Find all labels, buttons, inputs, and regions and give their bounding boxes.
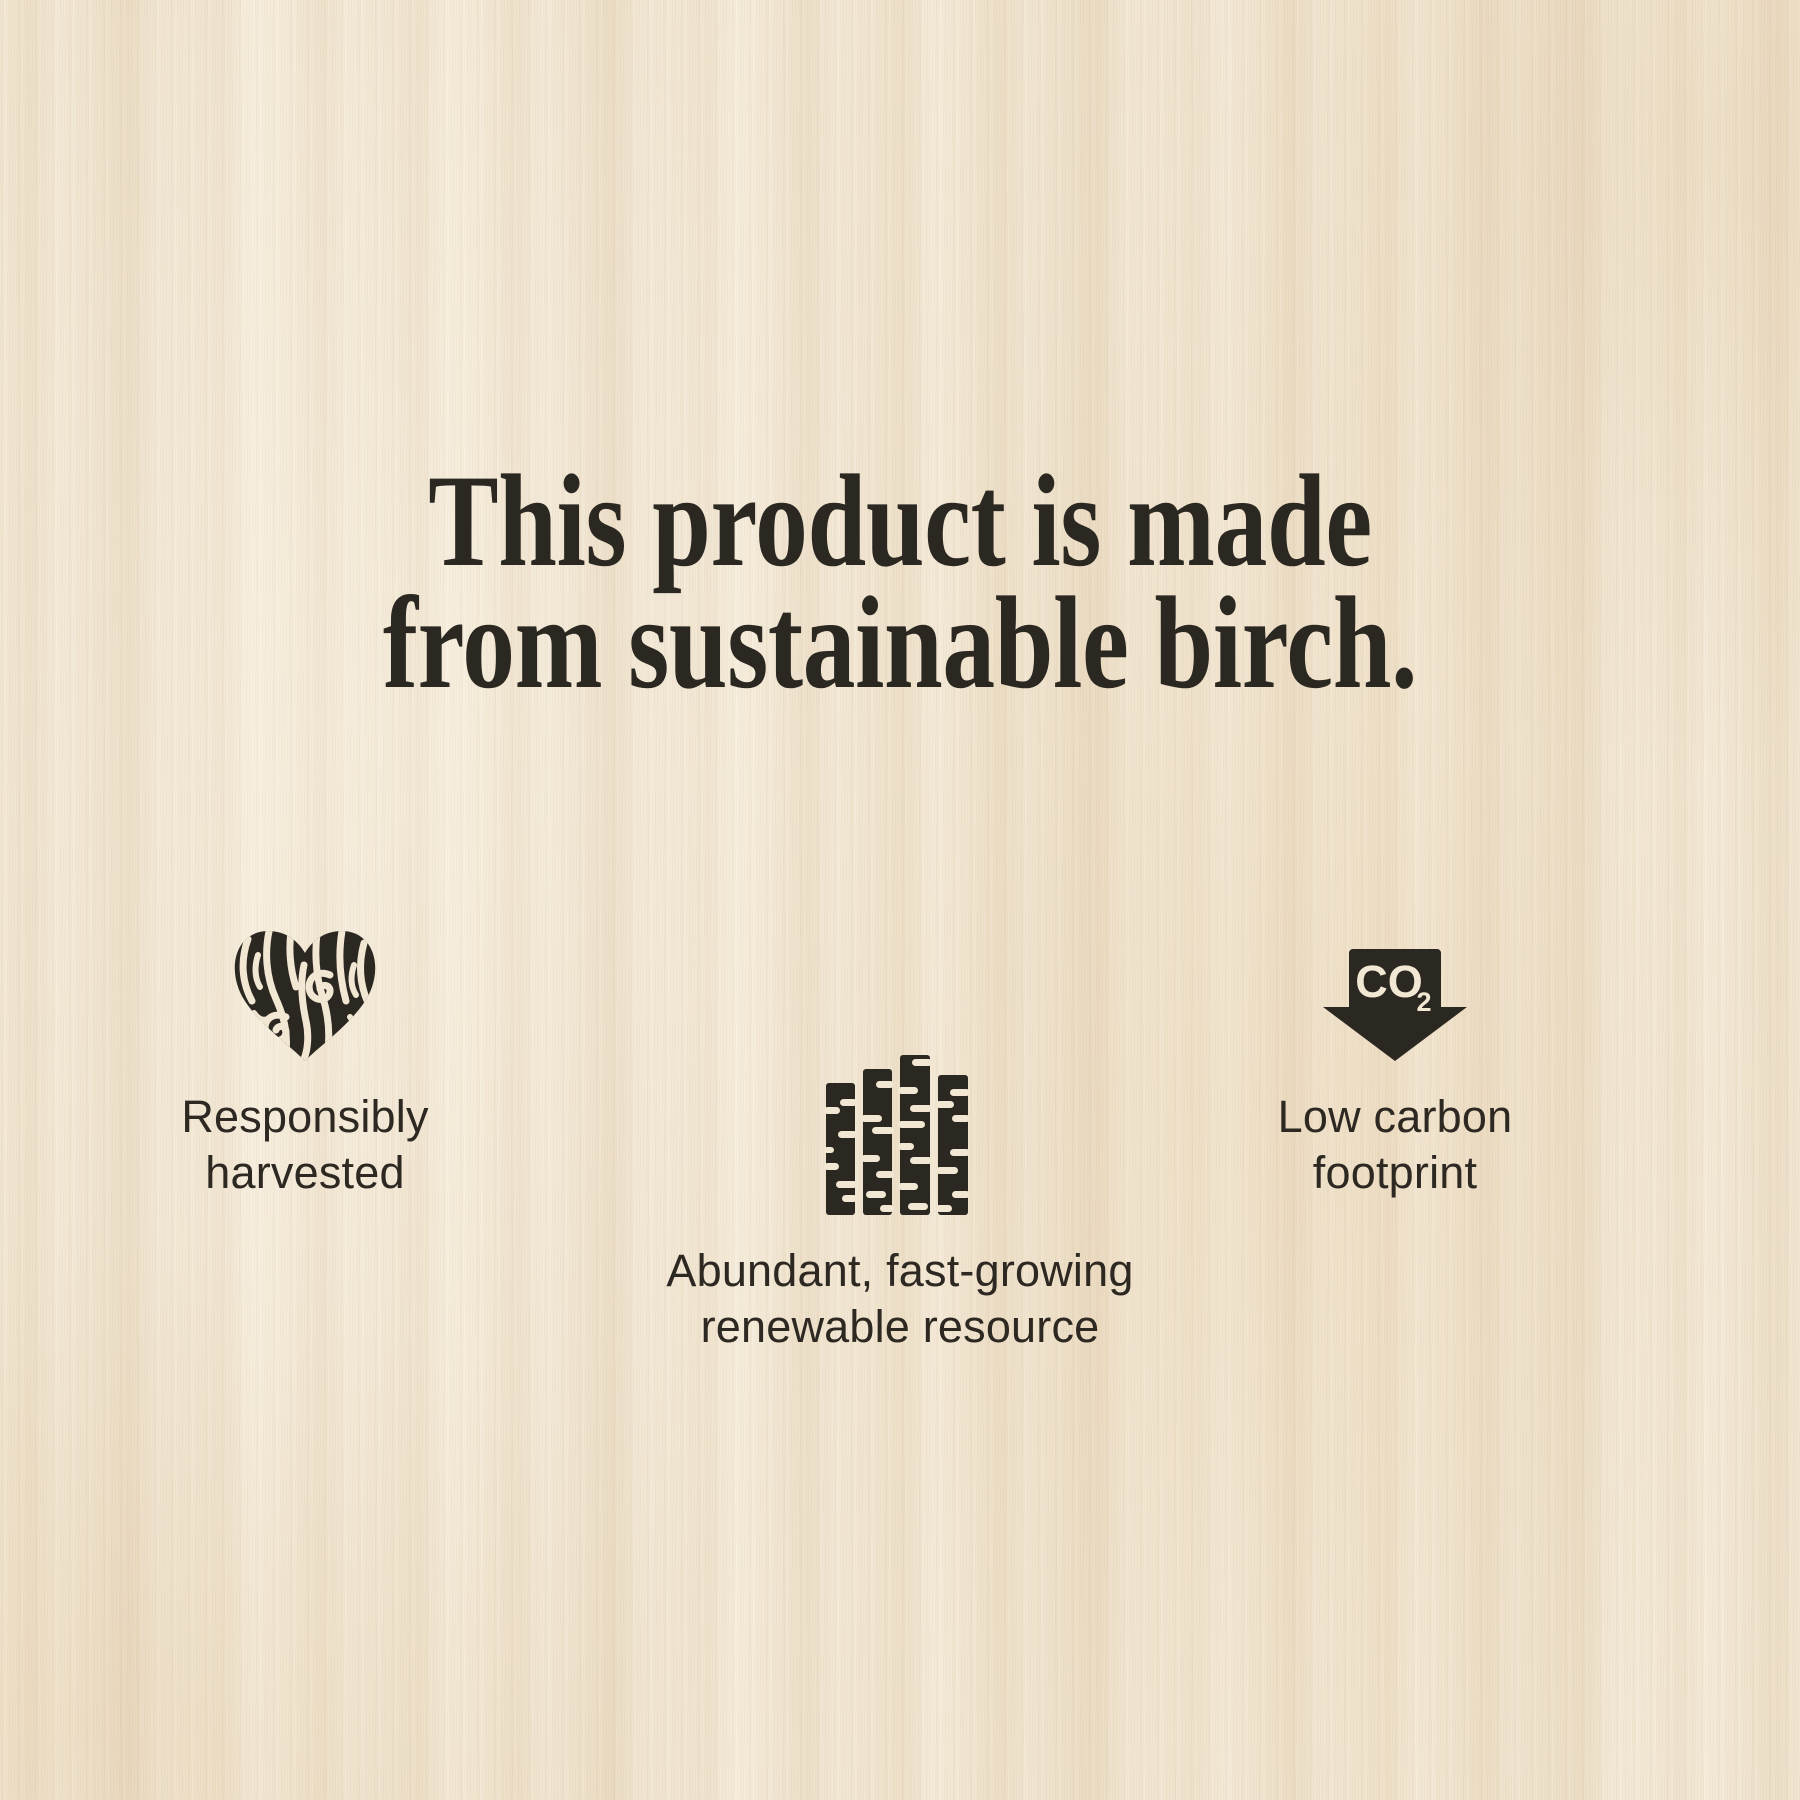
co2-label-text: CO [1355,956,1423,1007]
feature-caption: Abundant, fast-growing renewable resourc… [590,1243,1210,1355]
feature-low-carbon-footprint: CO 2 Low carbon footprint [1085,905,1705,1201]
co2-subscript-text: 2 [1416,987,1431,1017]
birch-panel-background: This product is made from sustainable bi… [0,0,1800,1800]
feature-caption: Low carbon footprint [1085,1089,1705,1201]
feature-responsibly-harvested: Responsibly harvested [95,905,515,1201]
feature-icon-container: CO 2 [1085,905,1705,1065]
poster-content: This product is made from sustainable bi… [0,0,1800,1800]
wood-grain-heart-icon [230,925,380,1065]
feature-caption: Responsibly harvested [95,1089,515,1201]
birch-trunks-icon [824,1055,976,1215]
page-title: This product is made from sustainable bi… [180,460,1620,704]
co2-down-arrow-icon: CO 2 [1319,945,1471,1065]
feature-icon-container [95,905,515,1065]
